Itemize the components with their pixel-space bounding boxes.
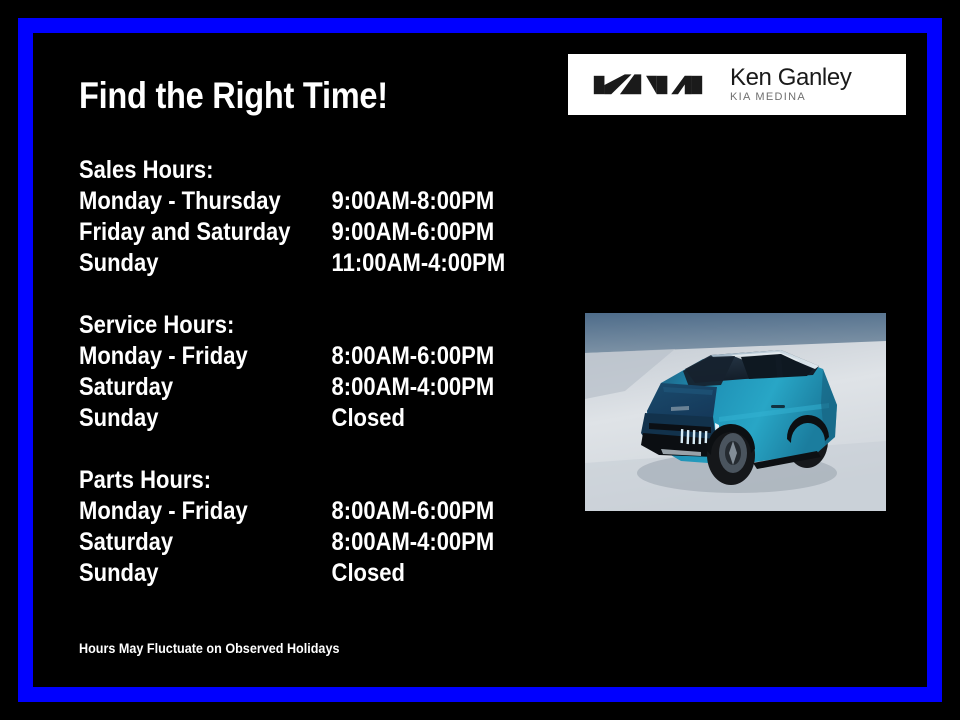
hours-row: Friday and Saturday9:00AM-6:00PM xyxy=(79,217,493,248)
hours-section: Sales Hours:Monday - Thursday9:00AM-8:00… xyxy=(79,155,549,279)
hours-section-heading: Parts Hours: xyxy=(79,465,493,496)
hours-row: Saturday8:00AM-4:00PM xyxy=(79,372,493,403)
footer-disclaimer: Hours May Fluctuate on Observed Holidays xyxy=(79,640,339,656)
hours-time-value: Closed xyxy=(332,403,405,434)
hours-day-label: Saturday xyxy=(79,372,332,403)
hours-day-label: Saturday xyxy=(79,527,332,558)
hours-section-heading: Sales Hours: xyxy=(79,155,493,186)
vehicle-photo xyxy=(585,313,886,511)
hours-block: Sales Hours:Monday - Thursday9:00AM-8:00… xyxy=(79,155,549,589)
hours-row: SundayClosed xyxy=(79,558,493,589)
dealer-subtitle: KIA MEDINA xyxy=(730,90,851,104)
hours-time-value: Closed xyxy=(332,558,405,589)
hours-row: Sunday11:00AM-4:00PM xyxy=(79,248,493,279)
hours-time-value: 8:00AM-6:00PM xyxy=(332,341,495,372)
hours-time-value: 8:00AM-4:00PM xyxy=(332,372,495,403)
hours-row: Monday - Friday8:00AM-6:00PM xyxy=(79,496,493,527)
hours-day-label: Monday - Friday xyxy=(79,496,332,527)
page-title: Find the Right Time! xyxy=(79,76,388,117)
dealer-name: Ken Ganley xyxy=(730,65,851,90)
hours-row: SundayClosed xyxy=(79,403,493,434)
hours-day-label: Monday - Friday xyxy=(79,341,332,372)
hours-row: Saturday8:00AM-4:00PM xyxy=(79,527,493,558)
hours-day-label: Monday - Thursday xyxy=(79,186,332,217)
hours-time-value: 8:00AM-4:00PM xyxy=(332,527,495,558)
dealership-hours-slide: Find the Right Time! Sales Hours:Monday … xyxy=(0,0,960,720)
hours-row: Monday - Thursday9:00AM-8:00PM xyxy=(79,186,493,217)
hours-time-value: 11:00AM-4:00PM xyxy=(332,248,506,279)
hours-section: Service Hours:Monday - Friday8:00AM-6:00… xyxy=(79,310,549,434)
hours-row: Monday - Friday8:00AM-6:00PM xyxy=(79,341,493,372)
hours-time-value: 9:00AM-6:00PM xyxy=(332,217,495,248)
hours-day-label: Sunday xyxy=(79,248,332,279)
vehicle-photo-graphic xyxy=(585,313,886,511)
hours-time-value: 8:00AM-6:00PM xyxy=(332,496,495,527)
hours-section: Parts Hours:Monday - Friday8:00AM-6:00PM… xyxy=(79,465,549,589)
hours-day-label: Sunday xyxy=(79,403,332,434)
dealer-logo-banner: Ken Ganley KIA MEDINA xyxy=(568,54,906,115)
hours-section-heading: Service Hours: xyxy=(79,310,493,341)
hours-time-value: 9:00AM-8:00PM xyxy=(332,186,495,217)
hours-day-label: Friday and Saturday xyxy=(79,217,332,248)
hours-day-label: Sunday xyxy=(79,558,332,589)
dealer-logo-text: Ken Ganley KIA MEDINA xyxy=(730,65,851,104)
kia-logo-icon xyxy=(588,70,708,100)
